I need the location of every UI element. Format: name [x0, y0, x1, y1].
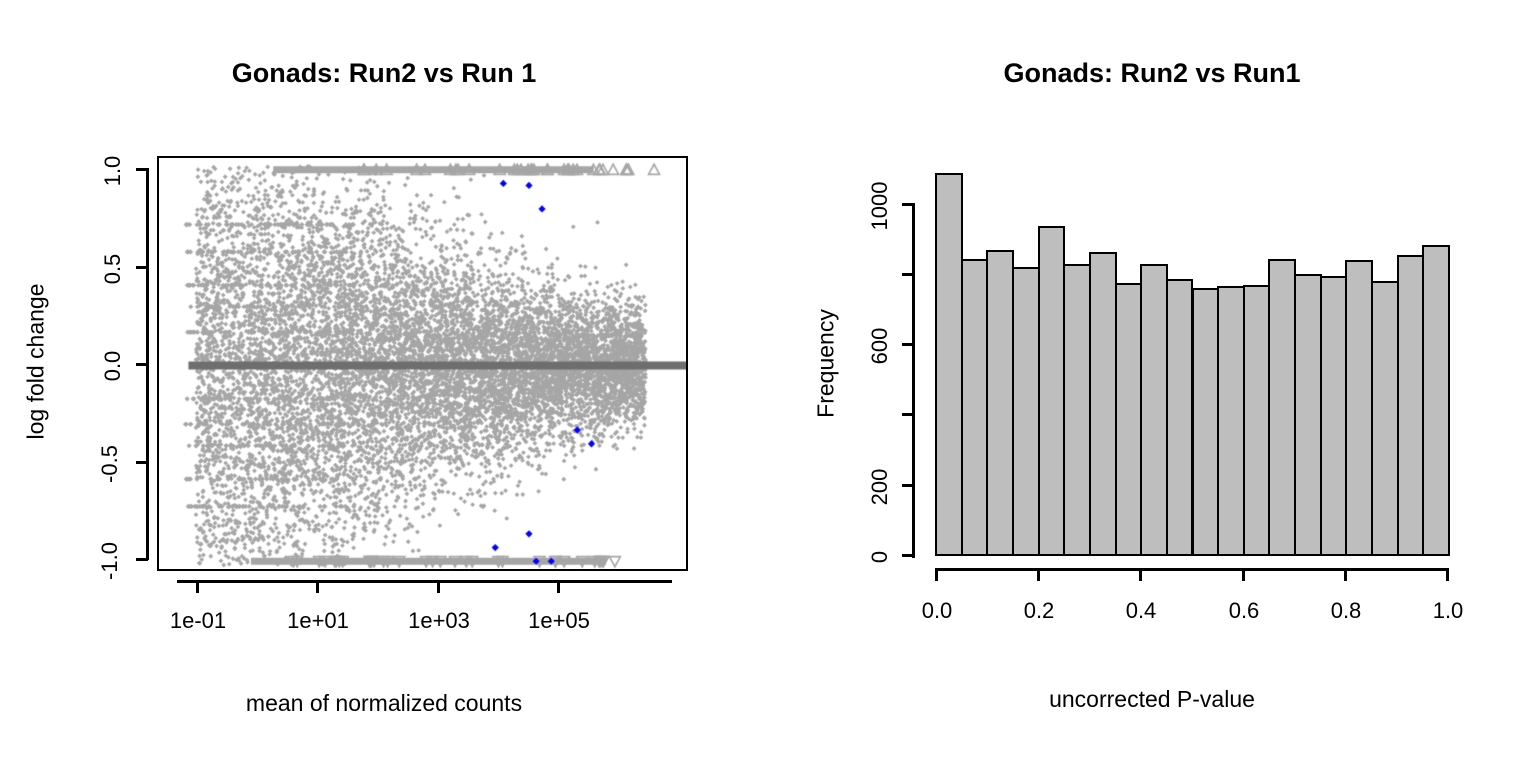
pvalue-histogram-y-tick-400 — [902, 413, 914, 416]
histogram-bar — [1294, 274, 1322, 556]
pvalue-histogram-x-tick-4 — [1344, 568, 1347, 581]
histogram-bar — [1089, 252, 1117, 556]
pvalue-histogram-y-axis-title: Frequency — [813, 269, 840, 459]
pvalue-histogram-y-tick-200 — [902, 484, 914, 487]
histogram-bar — [1268, 259, 1296, 556]
pvalue-histogram-x-ticklabel-5: 1.0 — [1396, 598, 1500, 624]
histogram-bar — [935, 173, 963, 556]
histogram-bar — [1012, 267, 1040, 556]
pvalue-histogram-x-ticklabel-0: 0.0 — [885, 598, 989, 624]
ma-plot-x-tick-3 — [437, 580, 440, 593]
histogram-bar — [1320, 276, 1348, 556]
ma-plot-title: Gonads: Run2 vs Run 1 — [0, 58, 768, 89]
histogram-bar — [986, 250, 1014, 556]
ma-plot-y-tick-1 — [136, 168, 148, 171]
histogram-bar — [1217, 286, 1245, 556]
figure-canvas: Gonads: Run2 vs Run 1 log fold change 1.… — [0, 0, 1536, 768]
ma-plot-x-ticklabel-3: 1e+03 — [387, 608, 491, 634]
pvalue-histogram-x-axis-line — [935, 568, 1448, 571]
ma-plot-y-ticklabel-3: 0.0 — [100, 326, 126, 406]
pvalue-histogram-x-tick-5 — [1446, 568, 1449, 581]
ma-plot-x-ticklabel-1: 1e-01 — [146, 608, 250, 634]
pvalue-histogram-y-tick-1000 — [902, 203, 914, 206]
ma-plot-y-tick-3 — [136, 363, 148, 366]
histogram-bar — [1166, 279, 1194, 556]
ma-plot-x-axis-line — [177, 580, 672, 583]
histogram-bar — [1345, 260, 1373, 556]
histogram-bar — [1140, 264, 1168, 556]
histogram-bar — [1192, 288, 1220, 556]
pvalue-histogram-y-ticklabel-0: 0 — [867, 536, 893, 578]
ma-plot-x-ticklabel-2: 1e+01 — [266, 608, 370, 634]
histogram-bar — [1422, 245, 1450, 556]
pvalue-histogram-x-tick-3 — [1242, 568, 1245, 581]
ma-plot-y-ticklabel-1: 1.0 — [100, 131, 126, 211]
ma-plot-y-ticklabel-2: 0.5 — [100, 229, 126, 309]
pvalue-histogram-x-ticklabel-4: 0.8 — [1294, 598, 1398, 624]
ma-plot-x-axis-title: mean of normalized counts — [0, 690, 768, 717]
ma-plot-y-tick-2 — [136, 266, 148, 269]
histogram-bar — [1397, 255, 1425, 556]
pvalue-histogram-y-tick-0 — [902, 554, 914, 557]
pvalue-histogram-y-tick-800 — [902, 273, 914, 276]
histogram-bar — [961, 259, 989, 556]
ma-plot-x-tick-2 — [316, 580, 319, 593]
pvalue-histogram-x-ticklabel-1: 0.2 — [987, 598, 1091, 624]
histogram-bar — [1063, 264, 1091, 556]
pvalue-histogram-y-tick-600 — [902, 343, 914, 346]
pvalue-histogram-x-ticklabel-2: 0.4 — [1089, 598, 1193, 624]
pvalue-histogram-y-ticklabel-200: 200 — [867, 447, 893, 527]
histogram-bar — [1243, 285, 1271, 556]
pvalue-histogram-bars — [935, 156, 1448, 556]
ma-plot-x-tick-4 — [557, 580, 560, 593]
ma-plot-panel: Gonads: Run2 vs Run 1 log fold change 1.… — [0, 0, 768, 768]
ma-plot-y-tick-5 — [136, 558, 148, 561]
ma-plot-y-axis-title: log fold change — [23, 262, 50, 462]
histogram-bar — [1115, 283, 1143, 556]
pvalue-histogram-panel: Gonads: Run2 vs Run1 Frequency 1000 600 … — [768, 0, 1536, 768]
pvalue-histogram-x-tick-0 — [935, 568, 938, 581]
pvalue-histogram-y-ticklabel-600: 600 — [867, 306, 893, 386]
pvalue-histogram-y-ticklabel-1000: 1000 — [867, 156, 893, 256]
ma-plot-data-canvas — [159, 158, 688, 571]
pvalue-histogram-x-axis-title: uncorrected P-value — [768, 686, 1536, 713]
histogram-bar — [1371, 281, 1399, 556]
ma-plot-x-tick-1 — [196, 580, 199, 593]
ma-plot-y-tick-4 — [136, 461, 148, 464]
pvalue-histogram-title: Gonads: Run2 vs Run1 — [768, 58, 1536, 89]
ma-plot-y-ticklabel-4: -0.5 — [97, 424, 123, 504]
ma-plot-frame — [157, 156, 688, 571]
ma-plot-x-ticklabel-4: 1e+05 — [507, 608, 611, 634]
pvalue-histogram-x-tick-2 — [1139, 568, 1142, 581]
pvalue-histogram-x-ticklabel-3: 0.6 — [1192, 598, 1296, 624]
pvalue-histogram-y-axis-line — [912, 203, 915, 558]
pvalue-histogram-x-tick-1 — [1037, 568, 1040, 581]
histogram-bar — [1038, 226, 1066, 556]
ma-plot-y-ticklabel-5: -1.0 — [97, 521, 123, 601]
